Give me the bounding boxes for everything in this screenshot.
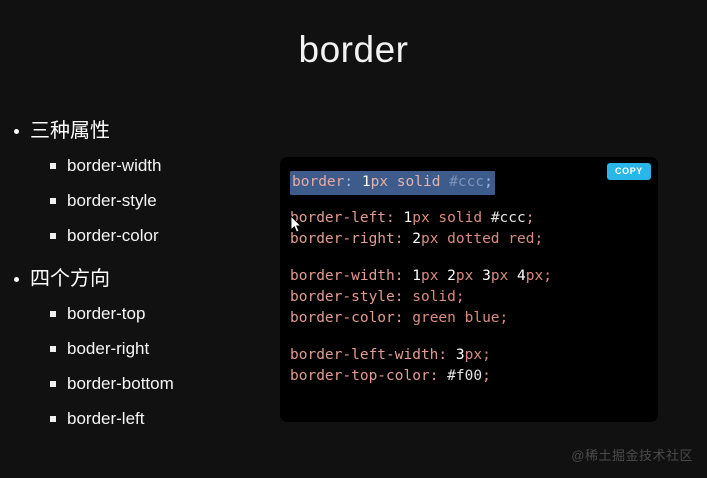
code-token: : [395,231,412,247]
code-token: 2 [447,268,456,284]
square-bullet-icon [50,198,56,204]
code-line[interactable]: border-right: 2px dotted red; [290,229,658,250]
watermark: @稀土掘金技术社区 [571,445,693,464]
code-token: border-right [290,231,395,247]
code-token: border-left-width [290,347,438,363]
list-item-label: border-style [67,190,157,213]
list-item: boder-right [50,338,264,361]
list-item: border-top [50,303,264,326]
square-bullet-icon [50,416,56,422]
outline-group-label: 四个方向 [30,266,110,293]
code-token: : [386,210,403,226]
code-line[interactable]: border-color: green blue; [290,308,658,329]
code-blank-line [290,329,658,345]
code-line-selected[interactable]: border: 1px solid #ccc; [290,171,658,192]
code-line[interactable]: border-left: 1px solid #ccc; [290,208,658,229]
code-token: ; [526,210,535,226]
code-token: border-width [290,268,395,284]
dot-bullet-icon [14,277,19,282]
list-item: border-style [50,190,264,213]
slide-root: border 三种属性border-widthborder-styleborde… [0,0,707,478]
list-item: border-bottom [50,373,264,396]
outline-group-heading: 三种属性 [14,118,264,145]
code-token: : [395,289,412,305]
outline-group-heading: 四个方向 [14,266,264,293]
code-token: : [430,368,447,384]
list-item-label: border-color [67,225,159,248]
list-item: border-left [50,408,264,431]
code-token: border-top-color [290,368,430,384]
selection-highlight: border: 1px solid #ccc; [290,171,495,195]
code-token: px dotted red; [421,231,543,247]
code-token: 2 [412,231,421,247]
square-bullet-icon [50,346,56,352]
code-token: 4 [517,268,526,284]
code-token: px solid [412,210,491,226]
outline-group: 三种属性border-widthborder-styleborder-color [14,118,264,248]
outline-group-label: 三种属性 [30,118,110,145]
code-token: 3 [482,268,491,284]
code-token: px [421,268,447,284]
outline-group: 四个方向border-topboder-rightborder-bottombo… [14,266,264,431]
code-token: solid; [412,289,464,305]
code-token: px [491,268,517,284]
dot-bullet-icon [14,129,19,134]
code-token: #ccc [449,174,484,190]
code-block-card[interactable]: border: 1px solid #ccc; border-left: 1px… [280,157,658,422]
code-token: 1 [412,268,421,284]
code-token: #ccc [491,210,526,226]
code-token: border-color [290,310,395,326]
code-token: : [438,347,455,363]
code-token: : [344,174,361,190]
code-token: 1 [362,174,371,190]
code-token: : [395,268,412,284]
code-token: 1 [404,210,413,226]
code-token: px solid [371,174,450,190]
code-token: ; [482,368,491,384]
code-token: px [456,268,482,284]
list-item-label: border-width [67,155,162,178]
list-item: border-width [50,155,264,178]
square-bullet-icon [50,233,56,239]
code-token: px; [465,347,491,363]
code-token: #f00 [447,368,482,384]
code-token: 3 [456,347,465,363]
code-body[interactable]: border: 1px solid #ccc; border-left: 1px… [290,171,658,387]
code-token: border [292,174,344,190]
list-item-label: border-bottom [67,373,174,396]
list-item-label: border-top [67,303,145,326]
code-line[interactable]: border-style: solid; [290,287,658,308]
code-token: border-left [290,210,386,226]
square-bullet-icon [50,381,56,387]
code-token: border-style [290,289,395,305]
code-token: green blue; [412,310,508,326]
outline-list: 三种属性border-widthborder-styleborder-color… [14,118,264,449]
code-blank-line [290,250,658,266]
list-item-label: boder-right [67,338,149,361]
square-bullet-icon [50,311,56,317]
page-title: border [0,30,707,71]
code-token: px; [526,268,552,284]
list-item-label: border-left [67,408,144,431]
code-line[interactable]: border-left-width: 3px; [290,345,658,366]
code-token: ; [484,174,493,190]
copy-button[interactable]: COPY [607,163,651,180]
code-token: : [395,310,412,326]
square-bullet-icon [50,163,56,169]
code-line[interactable]: border-top-color: #f00; [290,366,658,387]
list-item: border-color [50,225,264,248]
code-line[interactable]: border-width: 1px 2px 3px 4px; [290,266,658,287]
